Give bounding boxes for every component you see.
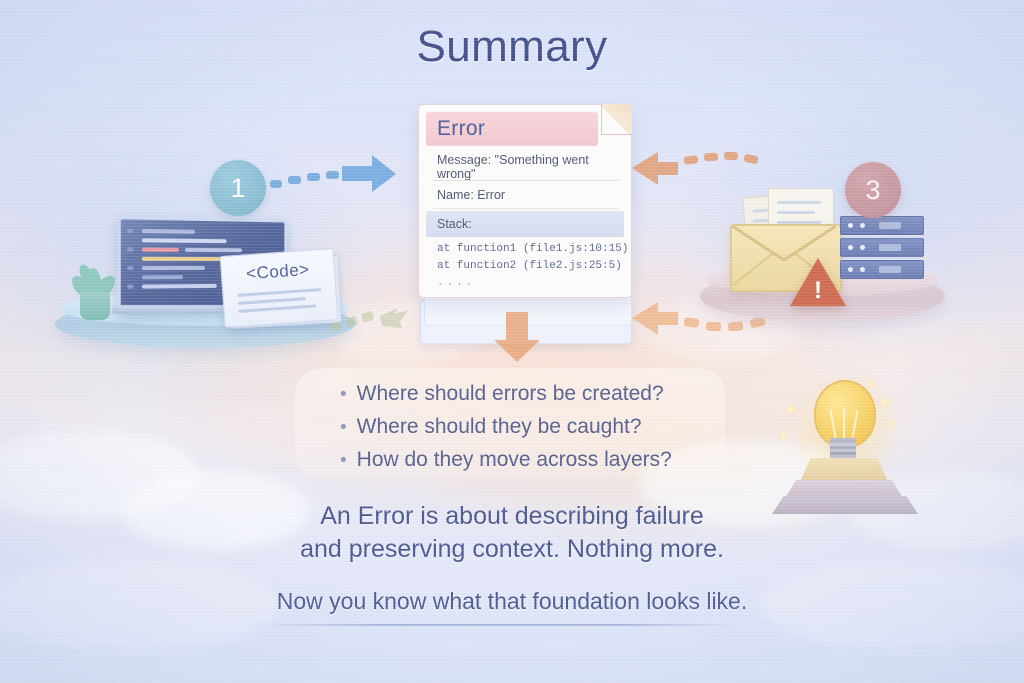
sparkle-icon: ✦ bbox=[784, 400, 797, 420]
error-message-text: Message: "Something went wrong" bbox=[437, 153, 624, 181]
list-item: • Where should they be caught? bbox=[340, 411, 720, 444]
code-paper: <Code> bbox=[220, 248, 339, 328]
stack-frame: at function1 (file1.js:10:15) bbox=[437, 241, 624, 258]
closing-line-1: An Error is about describing failure bbox=[0, 500, 1024, 533]
list-item: • How do they move across layers? bbox=[340, 444, 720, 477]
page-title: Summary bbox=[0, 22, 1024, 72]
bullet-dot: • bbox=[340, 445, 347, 477]
green-dashed-arrow bbox=[330, 300, 410, 340]
row-divider bbox=[433, 180, 619, 181]
error-stack-frames: at function1 (file1.js:10:15) at functio… bbox=[426, 239, 624, 293]
warning-exclamation-glyph: ! bbox=[814, 280, 821, 306]
sparkle-icon: ✦ bbox=[866, 378, 875, 391]
final-statement: Now you know what that foundation looks … bbox=[0, 588, 1024, 615]
plant-pot bbox=[80, 292, 110, 320]
error-object-card: Error Message: "Something went wrong" Na… bbox=[418, 104, 632, 298]
error-card-row-message: Message: "Something went wrong" bbox=[426, 155, 624, 179]
error-card-row-stack: Stack: bbox=[426, 211, 624, 237]
error-stack-label: Stack: bbox=[437, 217, 472, 231]
sparkle-icon: ✦ bbox=[878, 394, 891, 412]
list-item: • Where should errors be created? bbox=[340, 378, 720, 411]
arrow-left-orange-dashed-top bbox=[632, 148, 772, 196]
potted-plant bbox=[72, 262, 118, 322]
stack-frame: at function2 (file2.js:25:5) bbox=[437, 258, 624, 275]
stack-frame-ellipsis: .... bbox=[437, 275, 624, 292]
error-card-title: Error bbox=[437, 117, 485, 141]
question-text: Where should errors be created? bbox=[357, 378, 664, 410]
arrow-right-blue-dashed bbox=[268, 152, 398, 204]
questions-list: • Where should errors be created? • Wher… bbox=[340, 378, 720, 477]
step-badge-3: 3 bbox=[845, 162, 901, 218]
step-badge-1: 1 bbox=[210, 160, 266, 216]
error-name-text: Name: Error bbox=[437, 188, 505, 202]
code-paper-label: <Code> bbox=[221, 258, 334, 286]
arrow-down-orange bbox=[492, 312, 542, 364]
closing-statement: An Error is about describing failure and… bbox=[0, 500, 1024, 566]
bullet-dot: • bbox=[340, 379, 347, 411]
closing-line-2: and preserving context. Nothing more. bbox=[0, 533, 1024, 566]
final-statement-underline bbox=[258, 624, 738, 626]
question-text: Where should they be caught? bbox=[357, 411, 642, 443]
bullet-dot: • bbox=[340, 412, 347, 444]
server-rack bbox=[840, 216, 922, 278]
sparkle-icon: ✦ bbox=[778, 428, 789, 444]
error-card-row-name: Name: Error bbox=[426, 183, 624, 207]
row-divider bbox=[433, 208, 619, 209]
step-badge-3-label: 3 bbox=[865, 175, 880, 206]
slide-canvas: Summary <Code> bbox=[0, 0, 1024, 683]
sparkle-icon: ✦ bbox=[886, 418, 895, 431]
lightbulb-idea-icon: ✦ ✦ ✦ ✦ ✦ ✦ bbox=[770, 372, 930, 517]
question-text: How do they move across layers? bbox=[357, 444, 672, 476]
sparkle-icon: ✦ bbox=[800, 436, 808, 447]
error-card-header: Error bbox=[426, 112, 598, 146]
step-badge-1-label: 1 bbox=[230, 173, 245, 204]
page-fold-corner bbox=[601, 104, 632, 135]
